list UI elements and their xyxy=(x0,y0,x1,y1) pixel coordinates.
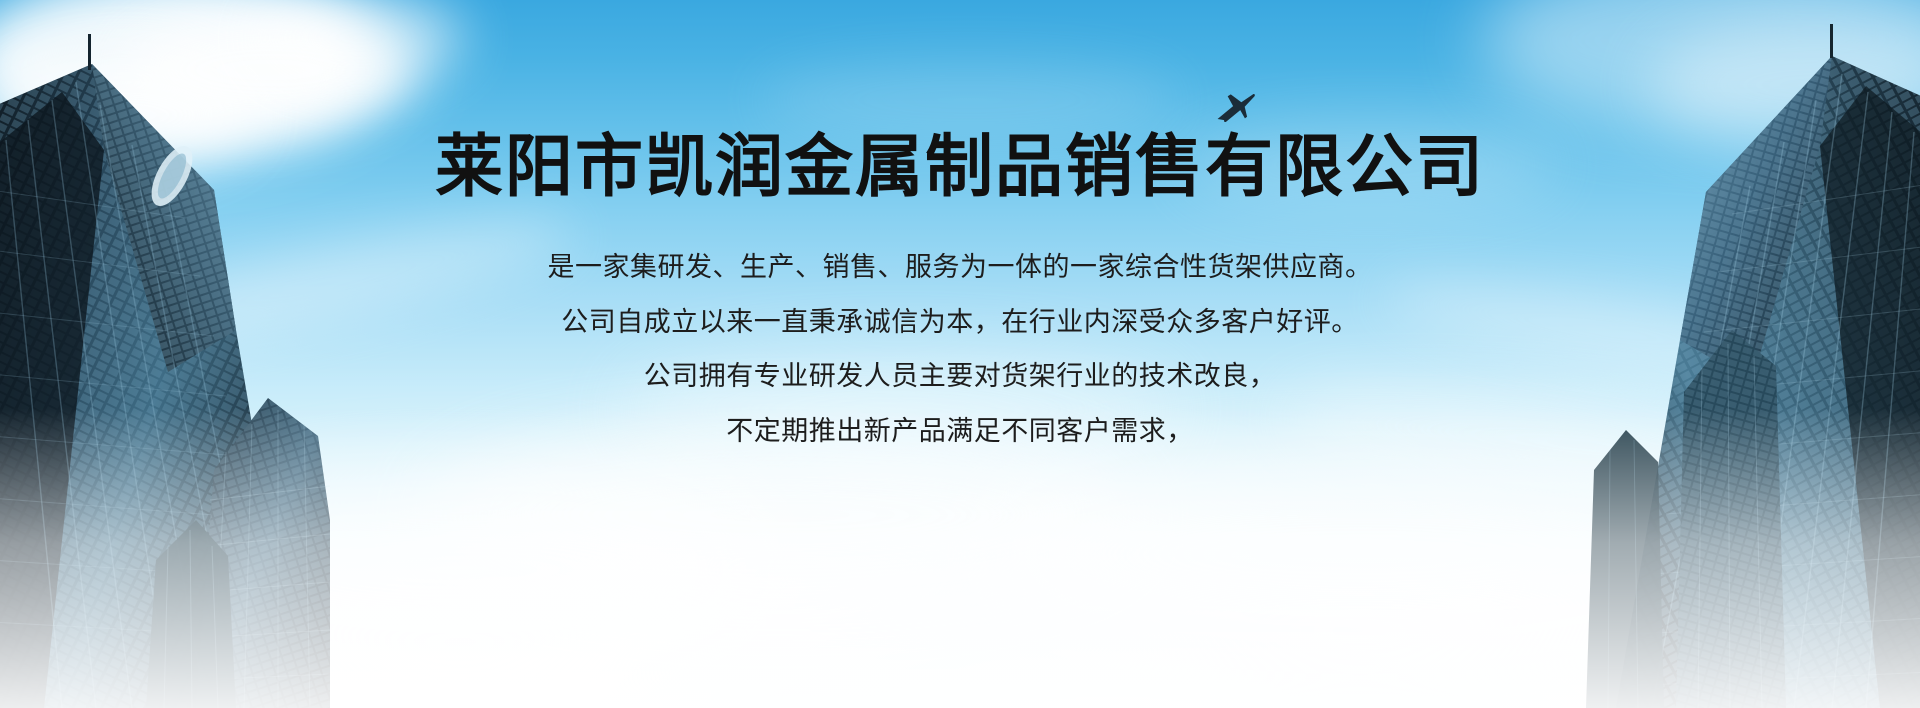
description-line: 是一家集研发、生产、销售、服务为一体的一家综合性货架供应商。 xyxy=(0,246,1920,290)
page-title: 莱阳市凯润金属制品销售有限公司 xyxy=(0,134,1920,202)
description-line: 公司拥有专业研发人员主要对货架行业的技术改良， xyxy=(0,355,1920,399)
airplane-icon xyxy=(1213,92,1259,126)
description-line: 不定期推出新产品满足不同客户需求， xyxy=(0,410,1920,454)
hero-banner: 莱阳市凯润金属制品销售有限公司 是一家集研发、生产、销售、服务为一体的一家综合性… xyxy=(0,0,1920,708)
company-description: 是一家集研发、生产、销售、服务为一体的一家综合性货架供应商。 公司自成立以来一直… xyxy=(0,246,1920,465)
description-line: 公司自成立以来一直秉承诚信为本，在行业内深受众多客户好评。 xyxy=(0,301,1920,345)
